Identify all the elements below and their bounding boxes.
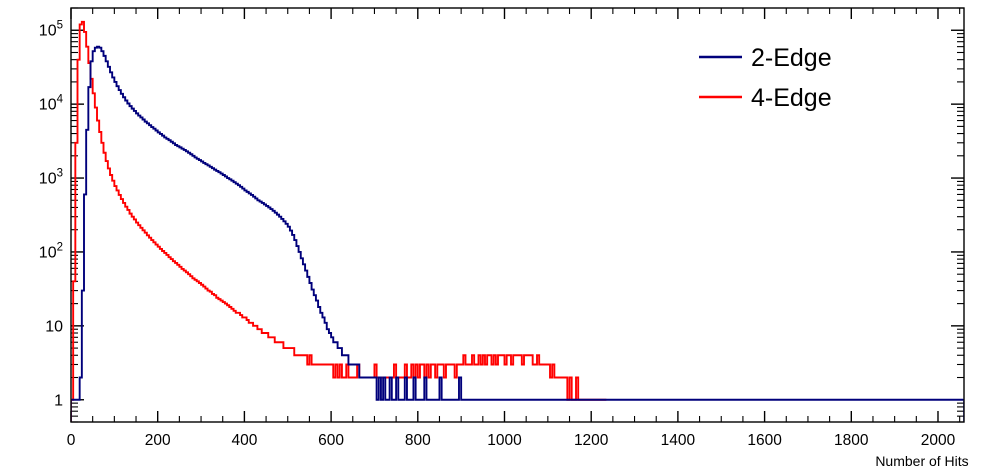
x-axis-title: Number of Hits	[875, 453, 968, 469]
x-tick-labels: 0200400600800100012001400160018002000	[67, 432, 956, 449]
y-tick-label: 10	[45, 318, 63, 335]
x-tick-label: 400	[231, 432, 257, 449]
x-tick-label: 1200	[574, 432, 609, 449]
histogram-plot: 0200400600800100012001400160018002000Num…	[0, 0, 996, 472]
x-tick-label: 1400	[661, 432, 696, 449]
x-tick-label: 200	[145, 432, 171, 449]
y-tick-label: 105	[39, 20, 63, 40]
y-tick-labels: 110102103104105	[39, 20, 64, 410]
y-tick-label: 104	[39, 94, 64, 114]
x-tick-label: 1000	[487, 432, 522, 449]
x-tick-label: 600	[318, 432, 344, 449]
legend-label-1: 2-Edge	[751, 44, 832, 72]
x-tick-label: 800	[405, 432, 431, 449]
x-tick-label: 1800	[834, 432, 869, 449]
x-tick-label: 1600	[747, 432, 782, 449]
y-tick-label: 102	[39, 241, 63, 261]
x-tick-label: 0	[67, 432, 76, 449]
chart-root: 0200400600800100012001400160018002000Num…	[0, 0, 996, 472]
y-tick-label: 103	[39, 168, 63, 188]
x-tick-label: 2000	[921, 432, 956, 449]
legend-label-2: 4-Edge	[751, 84, 832, 112]
y-tick-label: 1	[54, 392, 63, 409]
